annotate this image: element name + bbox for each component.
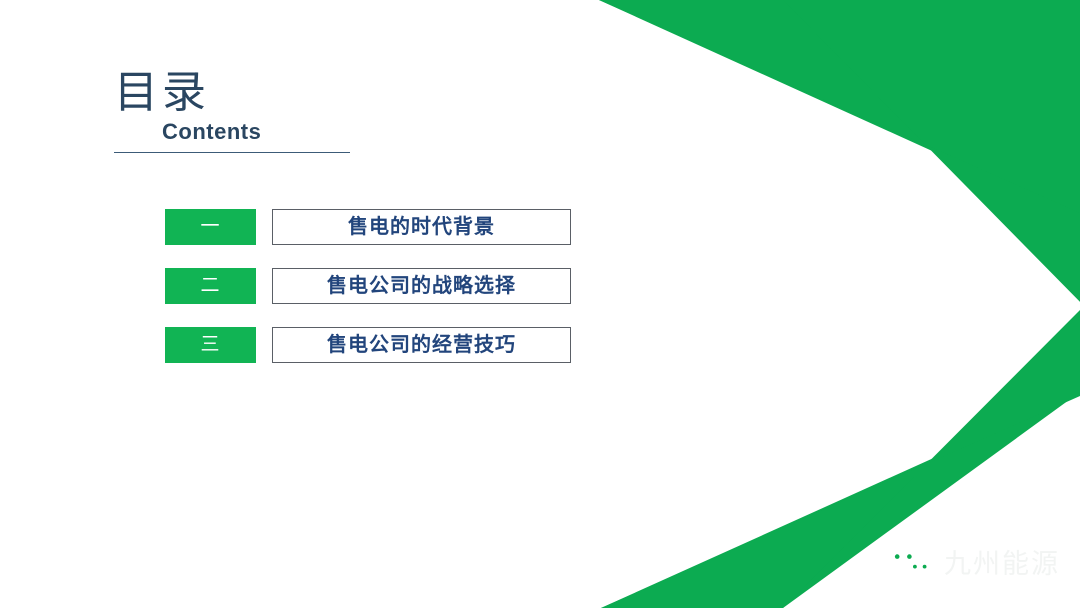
page-subtitle: Contents — [114, 118, 494, 146]
brand-watermark: 九州能源 — [884, 542, 1060, 586]
contents-item-label-3[interactable]: 售电公司的经营技巧 — [272, 327, 571, 363]
contents-item-number-2: 二 — [165, 268, 256, 304]
contents-item-label-2[interactable]: 售电公司的战略选择 — [272, 268, 571, 304]
list-item[interactable]: 三 售电公司的经营技巧 — [165, 327, 585, 363]
wechat-icon — [884, 544, 936, 584]
page-title-block: 目录 Contents — [114, 68, 494, 153]
page-title: 目录 — [114, 68, 494, 118]
slide-canvas: 目录 Contents 一 售电的时代背景 二 售电公司的战略选择 三 售电公司… — [0, 0, 1080, 608]
list-item[interactable]: 二 售电公司的战略选择 — [165, 268, 585, 304]
list-item[interactable]: 一 售电的时代背景 — [165, 209, 585, 245]
chevron-shape-main — [599, 0, 1080, 608]
chevron-shape — [599, 0, 1080, 608]
brand-name: 九州能源 — [944, 549, 1060, 579]
contents-item-label-1[interactable]: 售电的时代背景 — [272, 209, 571, 245]
contents-item-number-1: 一 — [165, 209, 256, 245]
title-divider — [114, 152, 350, 153]
contents-item-number-3: 三 — [165, 327, 256, 363]
contents-list: 一 售电的时代背景 二 售电公司的战略选择 三 售电公司的经营技巧 — [165, 209, 585, 363]
